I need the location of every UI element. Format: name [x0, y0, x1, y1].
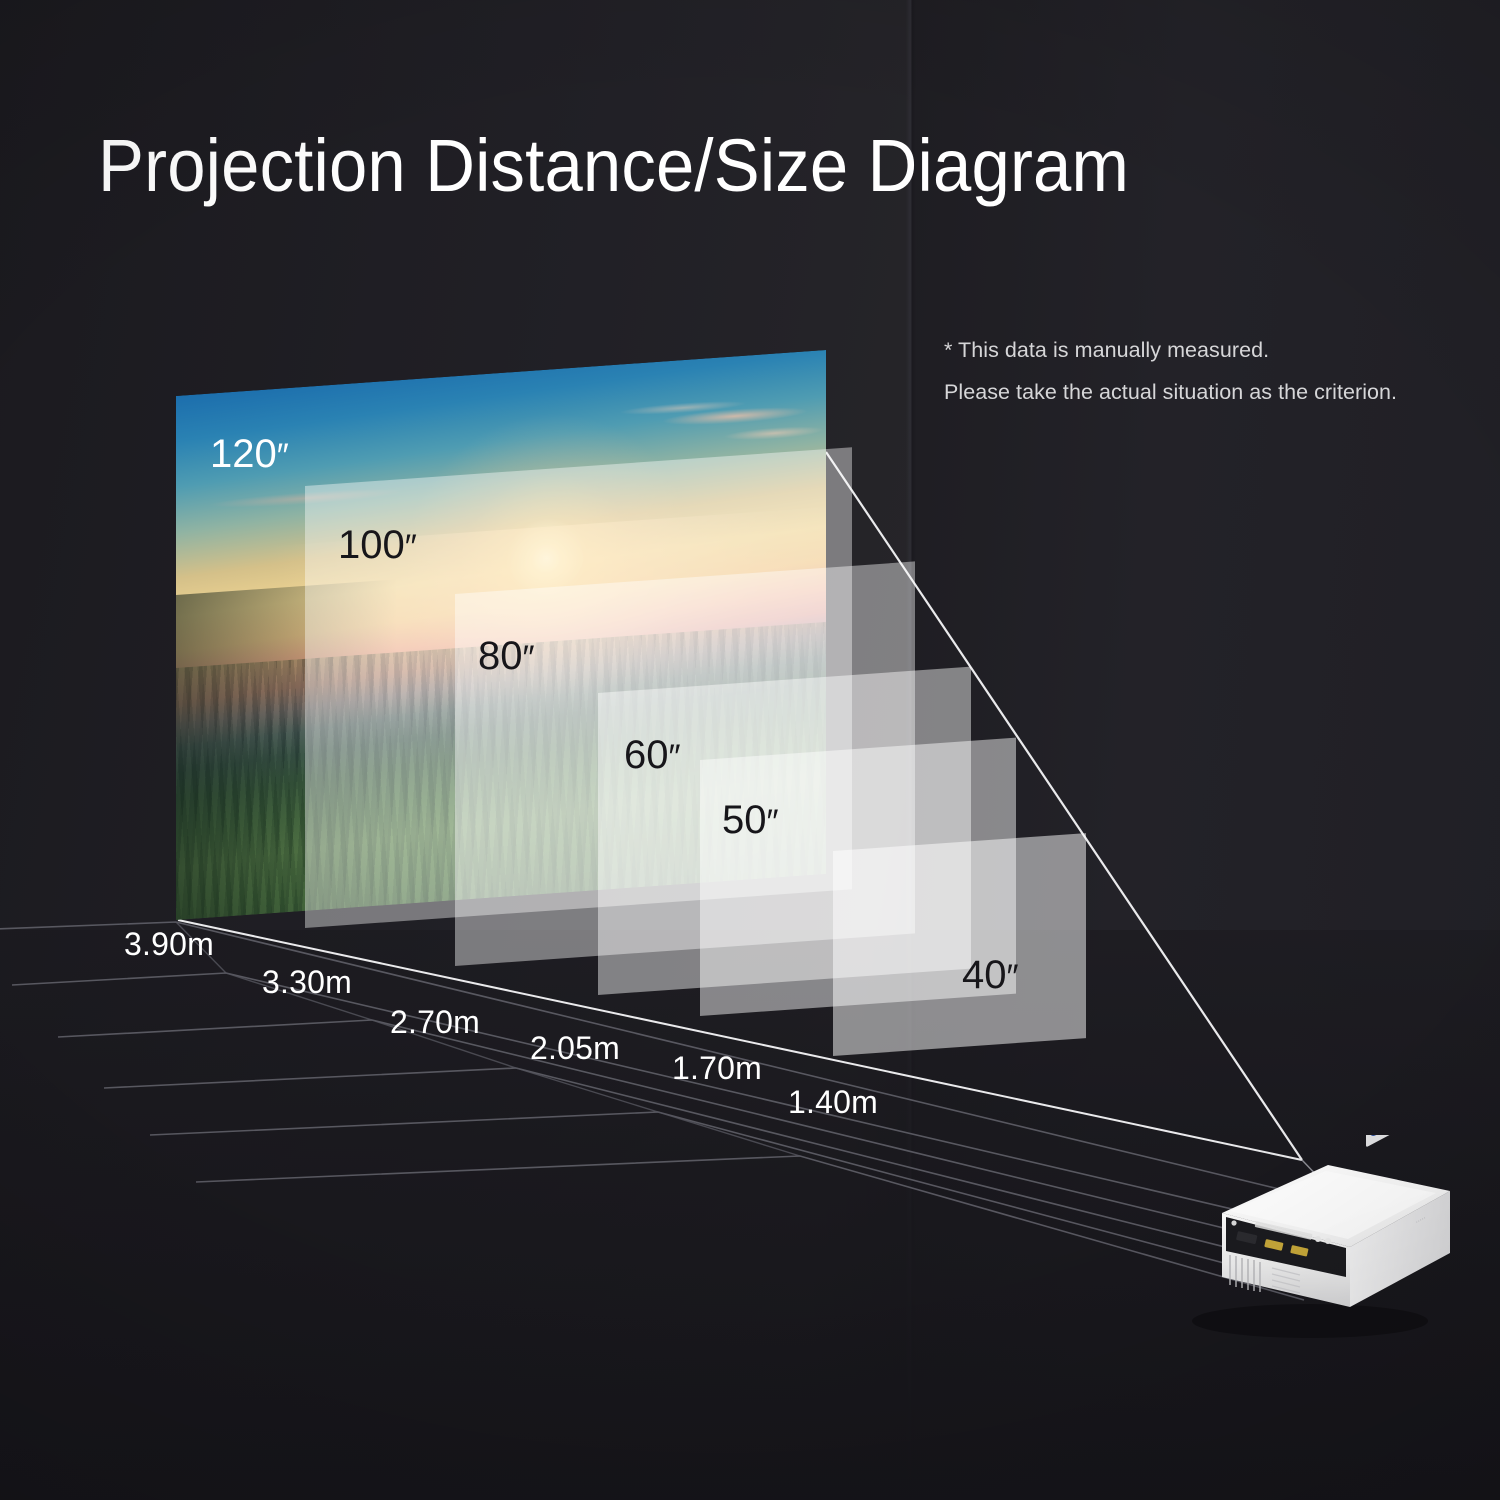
screen-label-60: 60″: [624, 735, 680, 775]
screen-label-60-value: 60: [624, 733, 669, 777]
measurement-note: * This data is manually measured. Please…: [944, 330, 1397, 414]
distance-label-100: 3.30m: [262, 966, 352, 998]
inch-mark-icon: ″: [1007, 958, 1018, 996]
screen-label-40: 40″: [962, 955, 1018, 995]
projection-diagram: 120″ 100″ 80″ 60″ 50″ 40″ 3.90m 3.30m 2.…: [0, 0, 1500, 1500]
inch-mark-icon: ″: [277, 437, 288, 475]
inch-mark-icon: ″: [523, 639, 534, 677]
distance-label-80: 2.70m: [390, 1006, 480, 1038]
screen-label-120: 120″: [210, 434, 288, 474]
note-line-1: * This data is manually measured.: [944, 330, 1397, 372]
inch-mark-icon: ″: [669, 738, 680, 776]
screen-label-50: 50″: [722, 800, 778, 840]
screen-label-50-value: 50: [722, 798, 767, 842]
control-knob-a: [1315, 1236, 1321, 1242]
screen-40: [833, 833, 1086, 1056]
screen-label-100: 100″: [338, 525, 416, 565]
note-line-2: Please take the actual situation as the …: [944, 372, 1397, 414]
inch-mark-icon: ″: [767, 803, 778, 841]
screen-label-100-value: 100: [338, 523, 405, 567]
screen-label-80: 80″: [478, 636, 534, 676]
control-knob-b: [1325, 1238, 1331, 1244]
inch-mark-icon: ″: [405, 528, 416, 566]
distance-label-60: 2.05m: [530, 1032, 620, 1064]
screen-label-80-value: 80: [478, 634, 523, 678]
projector: .....: [1160, 1135, 1460, 1345]
page-title: Projection Distance/Size Diagram: [98, 128, 1129, 203]
distance-label-50: 1.70m: [672, 1052, 762, 1084]
distance-label-40: 1.40m: [788, 1086, 878, 1118]
port-vga: [1366, 1135, 1400, 1147]
screen-label-40-value: 40: [962, 953, 1007, 997]
indicator-led: [1231, 1220, 1236, 1225]
distance-label-120: 3.90m: [124, 928, 214, 960]
screen-label-120-value: 120: [210, 432, 277, 476]
